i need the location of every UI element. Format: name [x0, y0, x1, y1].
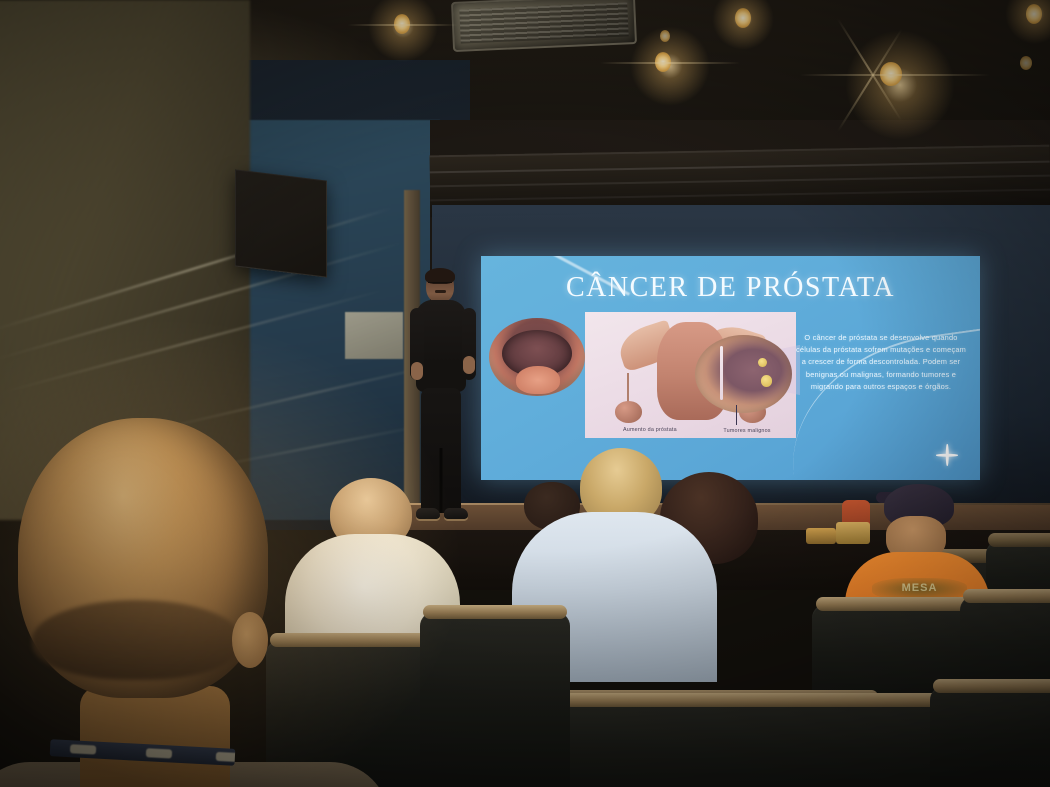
foreground-person-hairline [32, 600, 242, 680]
stage-prop-item [806, 528, 836, 544]
tumor-closeup [695, 335, 792, 413]
stage-prop-item [836, 522, 870, 544]
presenter-legs [421, 388, 461, 513]
ceiling-lamp-icon [660, 30, 670, 42]
ceiling-lamp-icon [1026, 4, 1042, 24]
bladder-prostate-illustration [489, 318, 585, 396]
sparkle-star-icon [936, 444, 958, 466]
malignant-tumor [758, 358, 767, 367]
ceiling-lamp-icon [1020, 56, 1032, 70]
urethra [720, 346, 723, 401]
shirt-logo-text: MESA [872, 582, 967, 594]
light-ray [348, 24, 458, 26]
light-ray [600, 62, 740, 64]
foreground-person-neck [80, 686, 230, 787]
figure-label-enlargement: Aumento da próstata [623, 427, 677, 433]
figure-label-tumors: Tumores malignos [723, 428, 770, 434]
presenter-hand-left [411, 362, 423, 380]
light-ray [800, 74, 990, 76]
slide-body-text: O câncer de próstata se desenvolve quand… [794, 332, 968, 393]
auditorium-photo: CÂNCER DE PRÓSTATA Aumento da próstata [0, 0, 1050, 787]
ceiling-lamp-icon [735, 8, 751, 28]
presentation-slide: CÂNCER DE PRÓSTATA Aumento da próstata [481, 256, 980, 480]
foreground-person-ear [232, 612, 268, 668]
presenter [408, 270, 478, 535]
seat[interactable] [556, 700, 966, 787]
vas-deferens-left [627, 373, 629, 406]
seat[interactable] [930, 686, 1050, 787]
presenter-shoe-left [416, 508, 440, 519]
wall-speaker-icon [235, 169, 327, 277]
label-leader-line [736, 405, 737, 425]
ac-vent-icon [451, 0, 637, 52]
presenter-shoe-right [444, 508, 468, 519]
malignant-tumor [761, 375, 773, 387]
presenter-moustache [435, 290, 446, 293]
testis-left [615, 401, 642, 422]
slide-title: CÂNCER DE PRÓSTATA [481, 272, 980, 304]
seat[interactable] [420, 612, 570, 787]
wall-sign [345, 312, 403, 359]
anatomy-panel: Aumento da próstata Tumores malignos [585, 312, 796, 438]
presenter-hand-right [463, 356, 475, 374]
glasses-icon [428, 282, 452, 288]
